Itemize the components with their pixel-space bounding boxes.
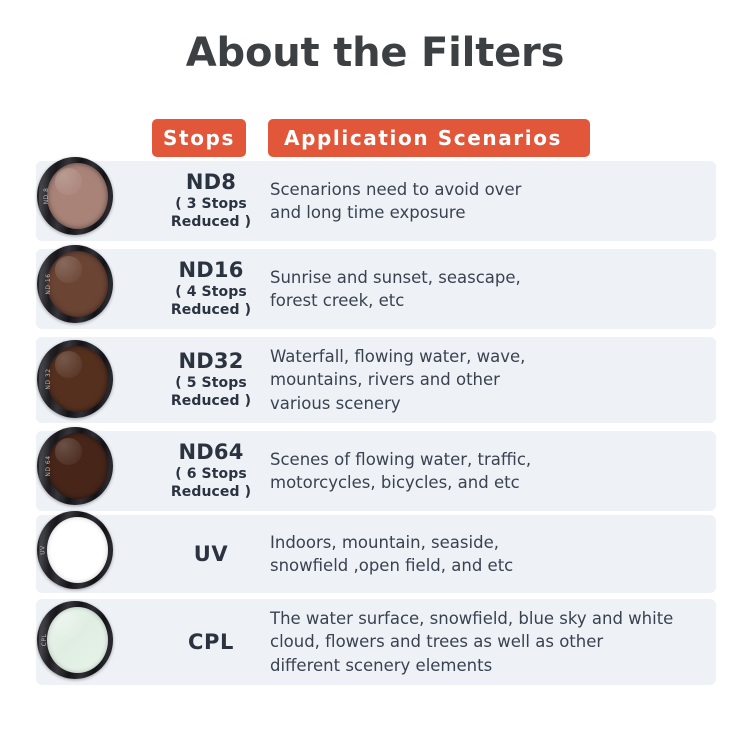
description-line: mountains, rivers and other (270, 368, 704, 391)
filter-glass (47, 607, 108, 673)
description-cell: Indoors, mountain, seaside, snowfield ,o… (270, 515, 704, 593)
description-line: different scenery elements (270, 654, 704, 677)
stops-cell: ND32 ( 5 Stops Reduced ) (152, 337, 270, 423)
table-row: ND64 ( 6 Stops Reduced ) Scenes of flowi… (36, 431, 716, 511)
description-line: Indoors, mountain, seaside, (270, 531, 704, 554)
filter-name: CPL (188, 630, 234, 654)
nd64-filter-icon: ND 64 (37, 427, 113, 505)
description-line: various scenery (270, 392, 704, 415)
table-row: CPL The water surface, snowfield, blue s… (36, 599, 716, 685)
filter-glass (47, 517, 108, 583)
description-line: motorcycles, bicycles, and etc (270, 471, 704, 494)
filter-stops-sub2: Reduced ) (171, 302, 251, 319)
table-row: ND16 ( 4 Stops Reduced ) Sunrise and sun… (36, 249, 716, 329)
filter-glass (47, 251, 108, 317)
table-row: ND32 ( 5 Stops Reduced ) Waterfall, flow… (36, 337, 716, 423)
description-line: Scenes of flowing water, traffic, (270, 448, 704, 471)
description-cell: Sunrise and sunset, seascape, forest cre… (270, 249, 704, 329)
description-line: Sunrise and sunset, seascape, (270, 266, 704, 289)
stops-cell: ND8 ( 3 Stops Reduced ) (152, 161, 270, 241)
description-line: The water surface, snowfield, blue sky a… (270, 607, 704, 630)
filter-stops-sub2: Reduced ) (171, 393, 251, 410)
filter-table: ND8 ( 3 Stops Reduced ) Scenarions need … (0, 0, 750, 750)
filter-name: ND32 (178, 350, 243, 374)
description-cell: Scenarions need to avoid over and long t… (270, 161, 704, 241)
description-cell: Scenes of flowing water, traffic, motorc… (270, 431, 704, 511)
description-cell: Waterfall, flowing water, wave, mountain… (270, 337, 704, 423)
description-line: Waterfall, flowing water, wave, (270, 345, 704, 368)
description-line: snowfield ,open field, and etc (270, 554, 704, 577)
stops-cell: UV (152, 515, 270, 593)
filter-glass (47, 433, 108, 499)
filter-stops-sub2: Reduced ) (171, 484, 251, 501)
description-line: and long time exposure (270, 201, 704, 224)
filter-glass (47, 163, 108, 229)
description-cell: The water surface, snowfield, blue sky a… (270, 599, 704, 685)
nd32-filter-icon: ND 32 (37, 340, 113, 418)
filter-glass (47, 346, 108, 412)
description-line: cloud, flowers and trees as well as othe… (270, 630, 704, 653)
table-row: ND8 ( 3 Stops Reduced ) Scenarions need … (36, 161, 716, 241)
cpl-filter-icon: CPL (37, 601, 113, 679)
filter-stops-sub2: Reduced ) (171, 214, 251, 231)
filter-stops-sub: ( 4 Stops (175, 284, 247, 301)
filter-stops-sub: ( 3 Stops (175, 196, 247, 213)
stops-cell: CPL (152, 599, 270, 685)
filter-name: ND64 (178, 441, 243, 465)
table-row: UV Indoors, mountain, seaside, snowfield… (36, 515, 716, 593)
filter-name: ND16 (178, 259, 243, 283)
filter-stops-sub: ( 6 Stops (175, 466, 247, 483)
uv-filter-icon: UV (37, 511, 113, 589)
nd8-filter-icon: ND 8 (37, 157, 113, 235)
stops-cell: ND16 ( 4 Stops Reduced ) (152, 249, 270, 329)
filter-stops-sub: ( 5 Stops (175, 375, 247, 392)
stops-cell: ND64 ( 6 Stops Reduced ) (152, 431, 270, 511)
filter-name: ND8 (186, 171, 236, 195)
nd16-filter-icon: ND 16 (37, 245, 113, 323)
filter-name: UV (194, 542, 229, 566)
description-line: forest creek, etc (270, 289, 704, 312)
description-line: Scenarions need to avoid over (270, 178, 704, 201)
